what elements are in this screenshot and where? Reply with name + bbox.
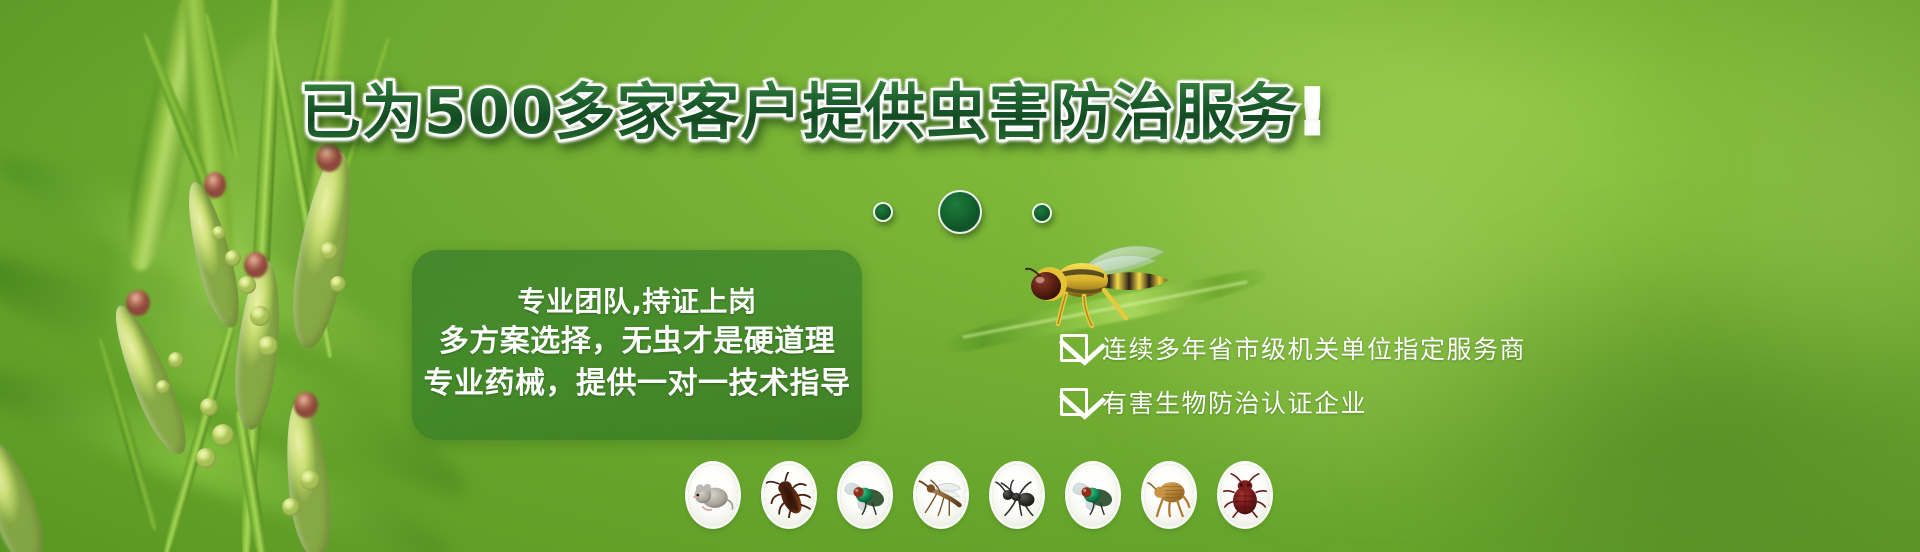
mosquito-icon[interactable] [916, 464, 966, 526]
feature-line-2: 多方案选择，无虫才是硬道理 [439, 326, 836, 358]
checklist-item-label: 有害生物防治认证企业 [1102, 384, 1367, 420]
checklist: 连续多年省市级机关单位指定服务商 有害生物防治认证企业 [1060, 330, 1600, 420]
checklist-item: 有害生物防治认证企业 [1060, 384, 1600, 420]
pest-control-banner: 已为500多家客户提供虫害防治服务! 已为500多家客户提供虫害防治服务! 专业… [0, 0, 1920, 552]
hoverfly-eye [1031, 272, 1061, 300]
hoverfly-on-leaf [1010, 236, 1180, 331]
bedbug-icon[interactable] [1220, 464, 1270, 526]
hoverfly-eye-glint [1036, 277, 1045, 283]
pest-icon-strip [688, 464, 1270, 526]
check-square-icon [1060, 388, 1088, 416]
feature-line-3: 专业药械，提供一对一技术指导 [424, 368, 851, 400]
check-square-icon [1060, 334, 1088, 362]
checklist-item: 连续多年省市级机关单位指定服务商 [1060, 330, 1600, 366]
mouse-icon[interactable] [688, 464, 738, 526]
dot-small-left [873, 202, 893, 222]
greenfly-icon-2[interactable] [1068, 464, 1118, 526]
cockroach-icon[interactable] [764, 464, 814, 526]
feature-line-1: 专业团队,持证上岗 [517, 287, 756, 316]
checklist-item-label: 连续多年省市级机关单位指定服务商 [1102, 330, 1526, 366]
flea-icon[interactable] [1144, 464, 1194, 526]
page-title: 已为500多家客户提供虫害防治服务! [300, 76, 1300, 148]
dot-large-center [938, 190, 982, 234]
greenfly-icon[interactable] [840, 464, 890, 526]
ant-icon[interactable] [992, 464, 1042, 526]
dot-small-right [1032, 203, 1052, 223]
feature-panel: 专业团队,持证上岗 多方案选择，无虫才是硬道理 专业药械，提供一对一技术指导 [412, 250, 862, 440]
